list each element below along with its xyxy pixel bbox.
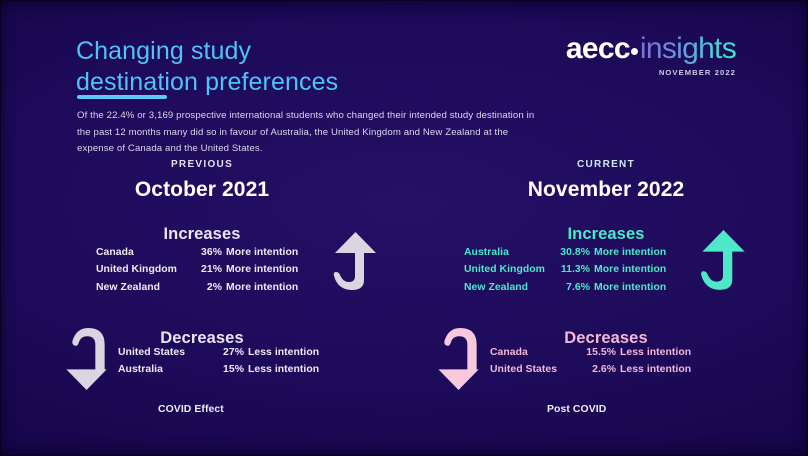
country-label: United Kingdom: [96, 265, 188, 275]
unit-label: Less intention: [248, 365, 319, 375]
unit-label: More intention: [226, 283, 298, 293]
value-label: 11.3%: [556, 265, 590, 275]
curved-arrow-down-icon: [431, 328, 483, 395]
increases-list-previous: Canada 36% More intention United Kingdom…: [96, 248, 298, 293]
unit-label: More intention: [594, 248, 666, 258]
column-period-previous: October 2021: [0, 179, 404, 200]
value-label: 21%: [188, 265, 222, 275]
logo-brand-text: aecc: [566, 32, 630, 65]
country-label: Canada: [490, 348, 582, 358]
unit-label: Less intention: [620, 348, 691, 358]
country-label: New Zealand: [464, 283, 556, 293]
logo-date-label: NOVEMBER 2022: [566, 68, 736, 77]
value-label: 15%: [210, 365, 244, 375]
intro-paragraph: Of the 22.4% or 3,169 prospective intern…: [77, 108, 547, 158]
value-label: 7.6%: [556, 283, 590, 293]
list-item: Australia 15% Less intention: [118, 365, 319, 375]
title-underline-rule: [77, 95, 167, 99]
list-item: United States 27% Less intention: [118, 348, 319, 358]
column-kicker-previous: PREVIOUS: [0, 160, 404, 170]
footer-label-current: Post COVID: [547, 405, 606, 415]
country-label: United States: [118, 348, 210, 358]
country-label: Australia: [118, 365, 210, 375]
unit-label: Less intention: [620, 365, 691, 375]
value-label: 15.5%: [582, 348, 616, 358]
unit-label: More intention: [226, 248, 298, 258]
list-item: United States 2.6% Less intention: [490, 365, 691, 375]
list-item: New Zealand 2% More intention: [96, 283, 298, 293]
value-label: 2.6%: [582, 365, 616, 375]
logo-wordmark: aeccinsights: [566, 34, 736, 64]
value-label: 2%: [188, 283, 222, 293]
increases-list-current: Australia 30.8% More intention United Ki…: [464, 248, 666, 293]
list-item: Canada 36% More intention: [96, 248, 298, 258]
curved-arrow-down-icon: [59, 328, 111, 395]
list-item: United Kingdom 11.3% More intention: [464, 265, 666, 275]
unit-label: Less intention: [248, 348, 319, 358]
value-label: 36%: [188, 248, 222, 258]
country-label: United Kingdom: [464, 265, 556, 275]
logo-dot-icon: [631, 48, 638, 55]
unit-label: More intention: [594, 265, 666, 275]
column-period-current: November 2022: [404, 179, 808, 200]
increases-heading-current: Increases: [404, 226, 808, 243]
unit-label: More intention: [594, 283, 666, 293]
decreases-list-current: Canada 15.5% Less intention United State…: [490, 348, 691, 376]
aecc-insights-logo: aeccinsights NOVEMBER 2022: [566, 34, 736, 77]
logo-product-text: insights: [640, 32, 736, 65]
country-label: New Zealand: [96, 283, 188, 293]
decreases-list-previous: United States 27% Less intention Austral…: [118, 348, 319, 376]
list-item: United Kingdom 21% More intention: [96, 265, 298, 275]
curved-arrow-up-icon: [332, 232, 378, 301]
list-item: Canada 15.5% Less intention: [490, 348, 691, 358]
value-label: 30.8%: [556, 248, 590, 258]
footer-label-previous: COVID Effect: [158, 405, 224, 415]
page-title: Changing study destination preferences: [76, 36, 338, 98]
country-label: Australia: [464, 248, 556, 258]
value-label: 27%: [210, 348, 244, 358]
country-label: Canada: [96, 248, 188, 258]
column-kicker-current: CURRENT: [404, 160, 808, 170]
curved-arrow-up-icon: [699, 230, 747, 301]
infographic-slide: Changing study destination preferences O…: [0, 0, 808, 456]
list-item: Australia 30.8% More intention: [464, 248, 666, 258]
unit-label: More intention: [226, 265, 298, 275]
country-label: United States: [490, 365, 582, 375]
list-item: New Zealand 7.6% More intention: [464, 283, 666, 293]
